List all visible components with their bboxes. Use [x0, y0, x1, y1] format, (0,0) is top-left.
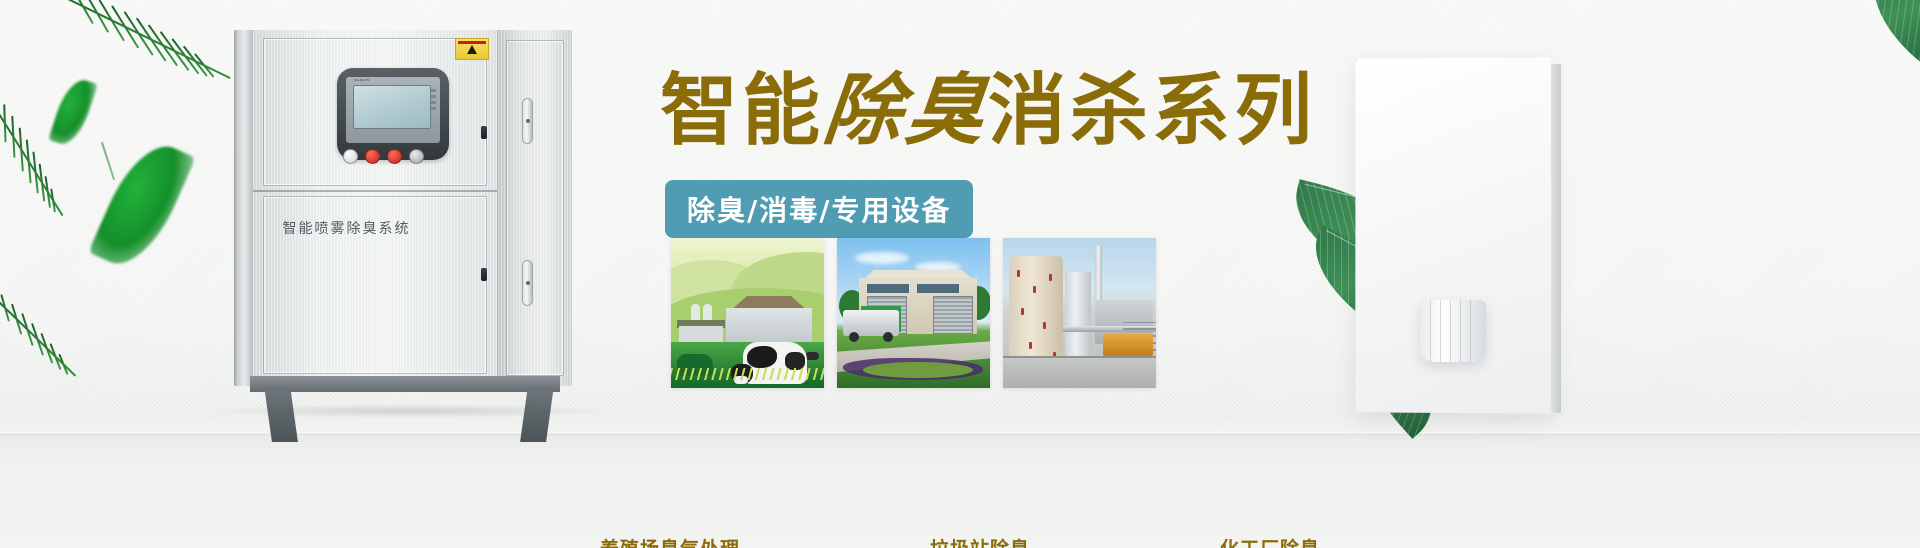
hmi-control-panel[interactable]: SIEMENS	[337, 68, 449, 160]
cabinet-side-door[interactable]	[497, 30, 572, 386]
hmi-brand-label: SIEMENS	[354, 78, 370, 82]
hmi-side-keys[interactable]	[431, 89, 436, 113]
caption-item: 养殖场臭气处理	[600, 534, 740, 548]
machine-label: 智能喷雾除臭系统	[271, 218, 422, 238]
side-door-handle-lower[interactable]	[522, 260, 533, 306]
thumbnail-gallery	[671, 238, 1156, 388]
cabinet-main-body: SIEMENS 智能喷雾除臭系统	[252, 30, 497, 386]
odor-removal-machine: SIEMENS 智能喷雾除臭系统	[234, 30, 572, 386]
cabinet-base	[250, 376, 560, 392]
stop-button[interactable]	[365, 149, 380, 164]
floor-plane	[0, 434, 1920, 548]
headline-part-1: 智能	[660, 66, 824, 156]
page-title: 智能除臭消杀系列	[660, 72, 1316, 150]
factory-gate-truck-thumbnail[interactable]	[837, 238, 990, 388]
industrial-plant-tank-thumbnail[interactable]	[1003, 238, 1156, 388]
power-button[interactable]	[343, 149, 358, 164]
cabinet-upper-latch[interactable]	[481, 126, 487, 139]
hmi-button-row[interactable]	[343, 149, 424, 164]
marble-panel-edge	[1551, 64, 1561, 414]
promo-banner: SIEMENS 智能喷雾除臭系统	[0, 0, 1920, 548]
farm-pasture-cow-thumbnail[interactable]	[671, 238, 824, 388]
cabinet-left-edge	[234, 30, 252, 386]
status-badge: 除臭/消毒/专用设备	[665, 180, 973, 238]
caption-item: 垃圾站除臭	[930, 534, 1030, 548]
caption-row: 养殖场臭气处理 垃圾站除臭 化工厂除臭	[0, 534, 1920, 548]
headline-part-2-brush: 除臭	[820, 72, 992, 150]
side-door-panel	[506, 40, 564, 376]
selector-knob[interactable]	[409, 149, 424, 164]
headline-part-3: 消杀系列	[988, 66, 1316, 156]
caption-item: 化工厂除臭	[1220, 534, 1320, 548]
side-door-handle-upper[interactable]	[522, 98, 533, 144]
cabinet-lower-latch[interactable]	[481, 268, 487, 281]
cabinet-door-seam	[253, 190, 497, 192]
hmi-bezel: SIEMENS	[346, 77, 440, 143]
banana-leaf-icon	[1848, 0, 1920, 74]
hmi-screen[interactable]	[353, 85, 431, 129]
warning-label-icon	[455, 38, 489, 60]
emergency-stop-button[interactable]	[387, 149, 402, 164]
planter-pot-decoration	[1420, 300, 1486, 362]
machine-shadow	[200, 404, 620, 418]
leaf-blade-icon	[48, 75, 98, 149]
